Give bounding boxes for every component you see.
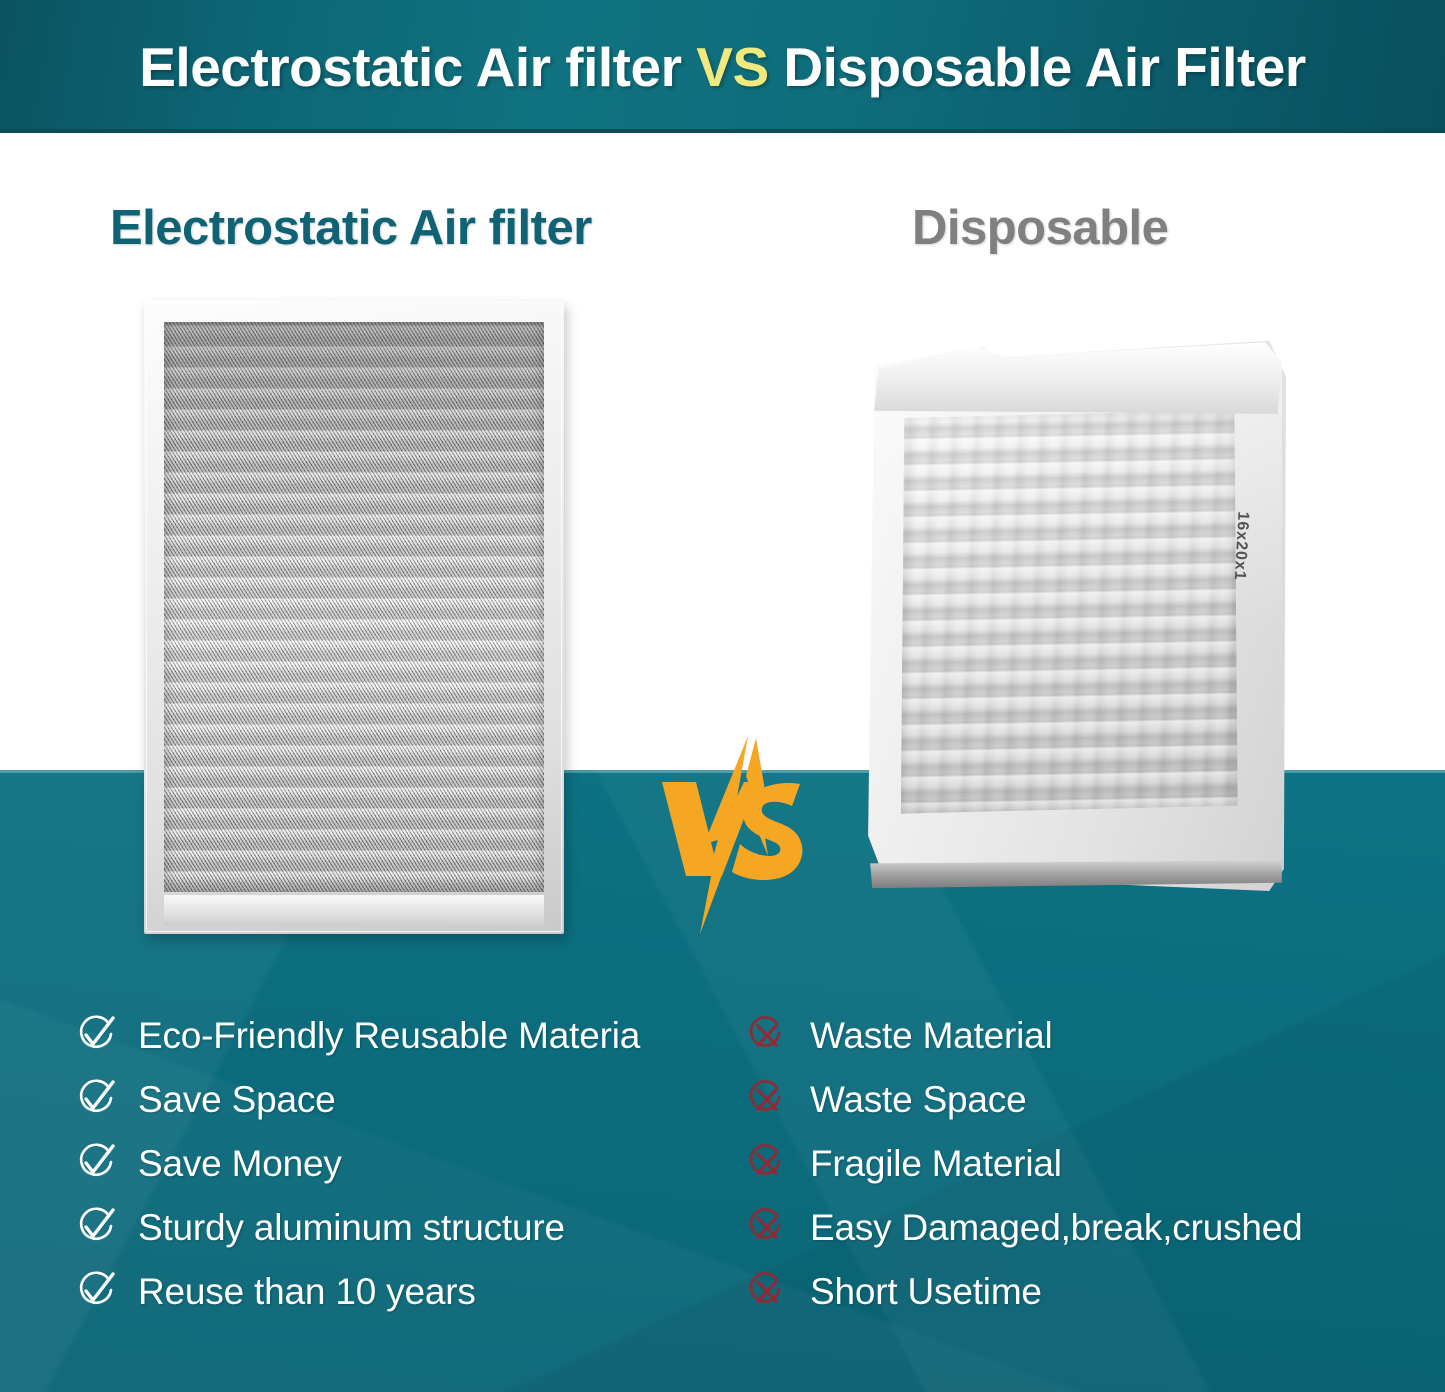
feature-label: Save Space bbox=[138, 1079, 336, 1121]
feature-row: Waste Material bbox=[744, 1004, 1404, 1068]
column-heading-electrostatic: Electrostatic Air filter bbox=[110, 200, 592, 256]
infographic-page: Electrostatic Air filter VS Disposable A… bbox=[0, 0, 1445, 1392]
electrostatic-filter-image bbox=[144, 300, 564, 934]
page-title-vs: VS bbox=[696, 36, 768, 98]
check-circle-icon bbox=[72, 1141, 118, 1187]
feature-row: Fragile Material bbox=[744, 1132, 1404, 1196]
feature-row: Waste Space bbox=[744, 1068, 1404, 1132]
feature-label: Waste Space bbox=[810, 1079, 1026, 1121]
page-title-part2: Disposable Air Filter bbox=[769, 36, 1306, 98]
feature-label: Reuse than 10 years bbox=[138, 1271, 476, 1313]
check-circle-icon bbox=[72, 1269, 118, 1315]
page-title: Electrostatic Air filter VS Disposable A… bbox=[0, 35, 1445, 99]
electrostatic-filter-bottom-rail bbox=[164, 895, 544, 926]
disposable-filter-media bbox=[898, 410, 1238, 814]
check-circle-icon bbox=[72, 1205, 118, 1251]
check-circle-icon bbox=[72, 1013, 118, 1059]
feature-row: Save Space bbox=[72, 1068, 727, 1132]
x-circle-icon bbox=[744, 1141, 790, 1187]
feature-list-electrostatic: Eco-Friendly Reusable Materia Save Space… bbox=[72, 1004, 727, 1324]
feature-label: Eco-Friendly Reusable Materia bbox=[138, 1015, 640, 1057]
feature-row: Sturdy aluminum structure bbox=[72, 1196, 727, 1260]
feature-list-disposable: Waste Material Waste Space Fragile M bbox=[744, 1004, 1404, 1324]
feature-label: Fragile Material bbox=[810, 1143, 1062, 1185]
header-banner: Electrostatic Air filter VS Disposable A… bbox=[0, 0, 1445, 133]
feature-label: Waste Material bbox=[810, 1015, 1053, 1057]
feature-row: Eco-Friendly Reusable Materia bbox=[72, 1004, 727, 1068]
check-circle-icon bbox=[72, 1077, 118, 1123]
feature-label: Sturdy aluminum structure bbox=[138, 1207, 565, 1249]
column-heading-disposable: Disposable bbox=[912, 200, 1168, 256]
disposable-filter-image: 16x20x1 bbox=[866, 338, 1286, 891]
electrostatic-filter-mesh bbox=[164, 322, 544, 892]
feature-row: Reuse than 10 years bbox=[72, 1260, 727, 1324]
feature-row: Easy Damaged,break,crushed bbox=[744, 1196, 1404, 1260]
disposable-filter-top-lip bbox=[870, 341, 1282, 414]
feature-label: Short Usetime bbox=[810, 1271, 1042, 1313]
x-circle-icon bbox=[744, 1269, 790, 1315]
page-title-part1: Electrostatic Air filter bbox=[139, 36, 696, 98]
x-circle-icon bbox=[744, 1205, 790, 1251]
feature-row: Short Usetime bbox=[744, 1260, 1404, 1324]
feature-row: Save Money bbox=[72, 1132, 727, 1196]
electrostatic-filter-mesh-shading bbox=[164, 322, 544, 892]
x-circle-icon bbox=[744, 1077, 790, 1123]
feature-label: Easy Damaged,break,crushed bbox=[810, 1207, 1303, 1249]
x-circle-icon bbox=[744, 1013, 790, 1059]
feature-label: Save Money bbox=[138, 1143, 342, 1185]
